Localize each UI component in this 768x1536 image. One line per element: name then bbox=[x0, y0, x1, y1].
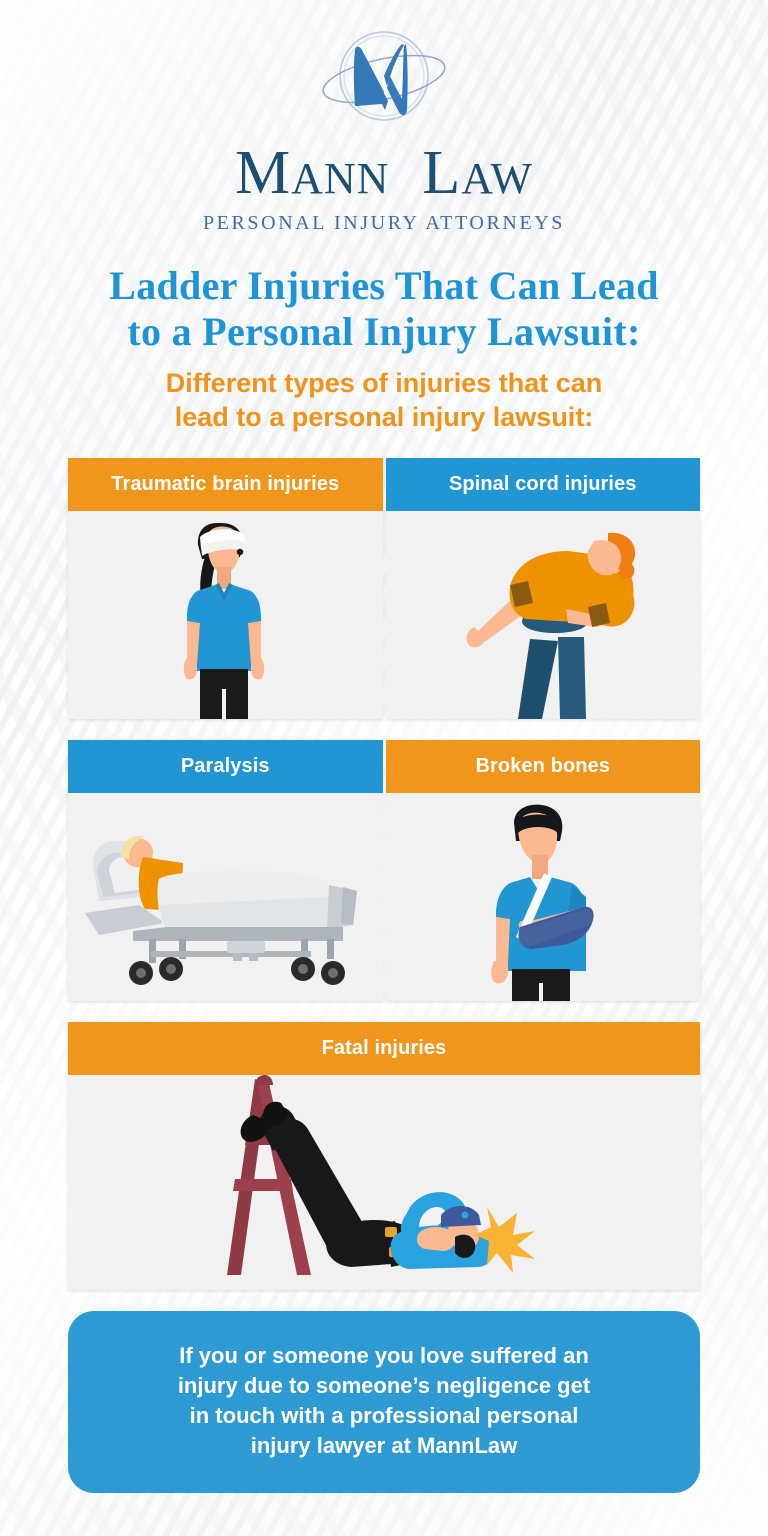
cta-line2: injury due to someone’s negligence get bbox=[116, 1371, 652, 1401]
card-header-fatal-injuries: Fatal injuries bbox=[68, 1022, 700, 1075]
cta-line4: injury lawyer at MannLaw bbox=[116, 1431, 652, 1461]
card-row-2: Paralysis bbox=[68, 740, 700, 1001]
brand-name: MANN LAW bbox=[0, 142, 768, 204]
card-row-1: Traumatic brain injuries bbox=[68, 458, 700, 719]
card-traumatic-brain-injuries[interactable]: Traumatic brain injuries bbox=[68, 458, 383, 719]
page-subtitle: Different types of injuries that can lea… bbox=[0, 366, 768, 434]
mann-law-monogram-m-icon bbox=[294, 26, 474, 138]
brand-name-law: L bbox=[422, 139, 461, 207]
card-broken-bones[interactable]: Broken bones bbox=[386, 740, 701, 1001]
card-spinal-cord-injuries[interactable]: Spinal cord injuries bbox=[386, 458, 701, 719]
card-header-traumatic-brain-injuries: Traumatic brain injuries bbox=[68, 458, 383, 511]
cta-banner[interactable]: If you or someone you love suffered an i… bbox=[68, 1311, 700, 1493]
card-illustration-spinal-cord-injuries bbox=[386, 511, 701, 719]
patient-in-hospital-bed-illustration bbox=[75, 801, 375, 1001]
card-illustration-traumatic-brain-injuries bbox=[68, 511, 383, 719]
card-header-broken-bones: Broken bones bbox=[386, 740, 701, 793]
brand-logo: MANN LAW PERSONAL INJURY ATTORNEYS bbox=[0, 0, 768, 235]
card-header-spinal-cord-injuries: Spinal cord injuries bbox=[386, 458, 701, 511]
card-illustration-fatal-injuries bbox=[68, 1075, 700, 1290]
injury-card-grid: Traumatic brain injuries bbox=[0, 458, 768, 1290]
page-title-line1: Ladder Injuries That Can Lead bbox=[34, 263, 734, 309]
card-row-3: Fatal injuries bbox=[68, 1022, 700, 1290]
page-subtitle-line2: lead to a personal injury lawsuit: bbox=[92, 400, 676, 434]
brand-tagline: PERSONAL INJURY ATTORNEYS bbox=[0, 212, 768, 235]
man-with-back-pain-illustration bbox=[418, 511, 668, 719]
person-fallen-from-ladder-illustration bbox=[169, 1075, 599, 1290]
infographic-page: MANN LAW PERSONAL INJURY ATTORNEYS Ladde… bbox=[0, 0, 768, 1536]
card-paralysis[interactable]: Paralysis bbox=[68, 740, 383, 1001]
man-with-arm-sling-illustration bbox=[458, 801, 628, 1001]
brand-name-mann: M bbox=[235, 139, 291, 207]
brand-name-law-rest: AW bbox=[461, 154, 533, 203]
card-header-paralysis: Paralysis bbox=[68, 740, 383, 793]
page-title: Ladder Injuries That Can Lead to a Perso… bbox=[0, 263, 768, 354]
page-title-line2: to a Personal Injury Lawsuit: bbox=[34, 309, 734, 355]
card-fatal-injuries[interactable]: Fatal injuries bbox=[68, 1022, 700, 1290]
card-illustration-broken-bones bbox=[386, 793, 701, 1001]
woman-with-head-bandage-illustration bbox=[145, 511, 305, 719]
cta-line3: in touch with a professional personal bbox=[116, 1401, 652, 1431]
cta-line1: If you or someone you love suffered an bbox=[116, 1341, 652, 1371]
page-subtitle-line1: Different types of injuries that can bbox=[92, 366, 676, 400]
brand-name-mann-rest: ANN bbox=[291, 154, 389, 203]
card-illustration-paralysis bbox=[68, 793, 383, 1001]
